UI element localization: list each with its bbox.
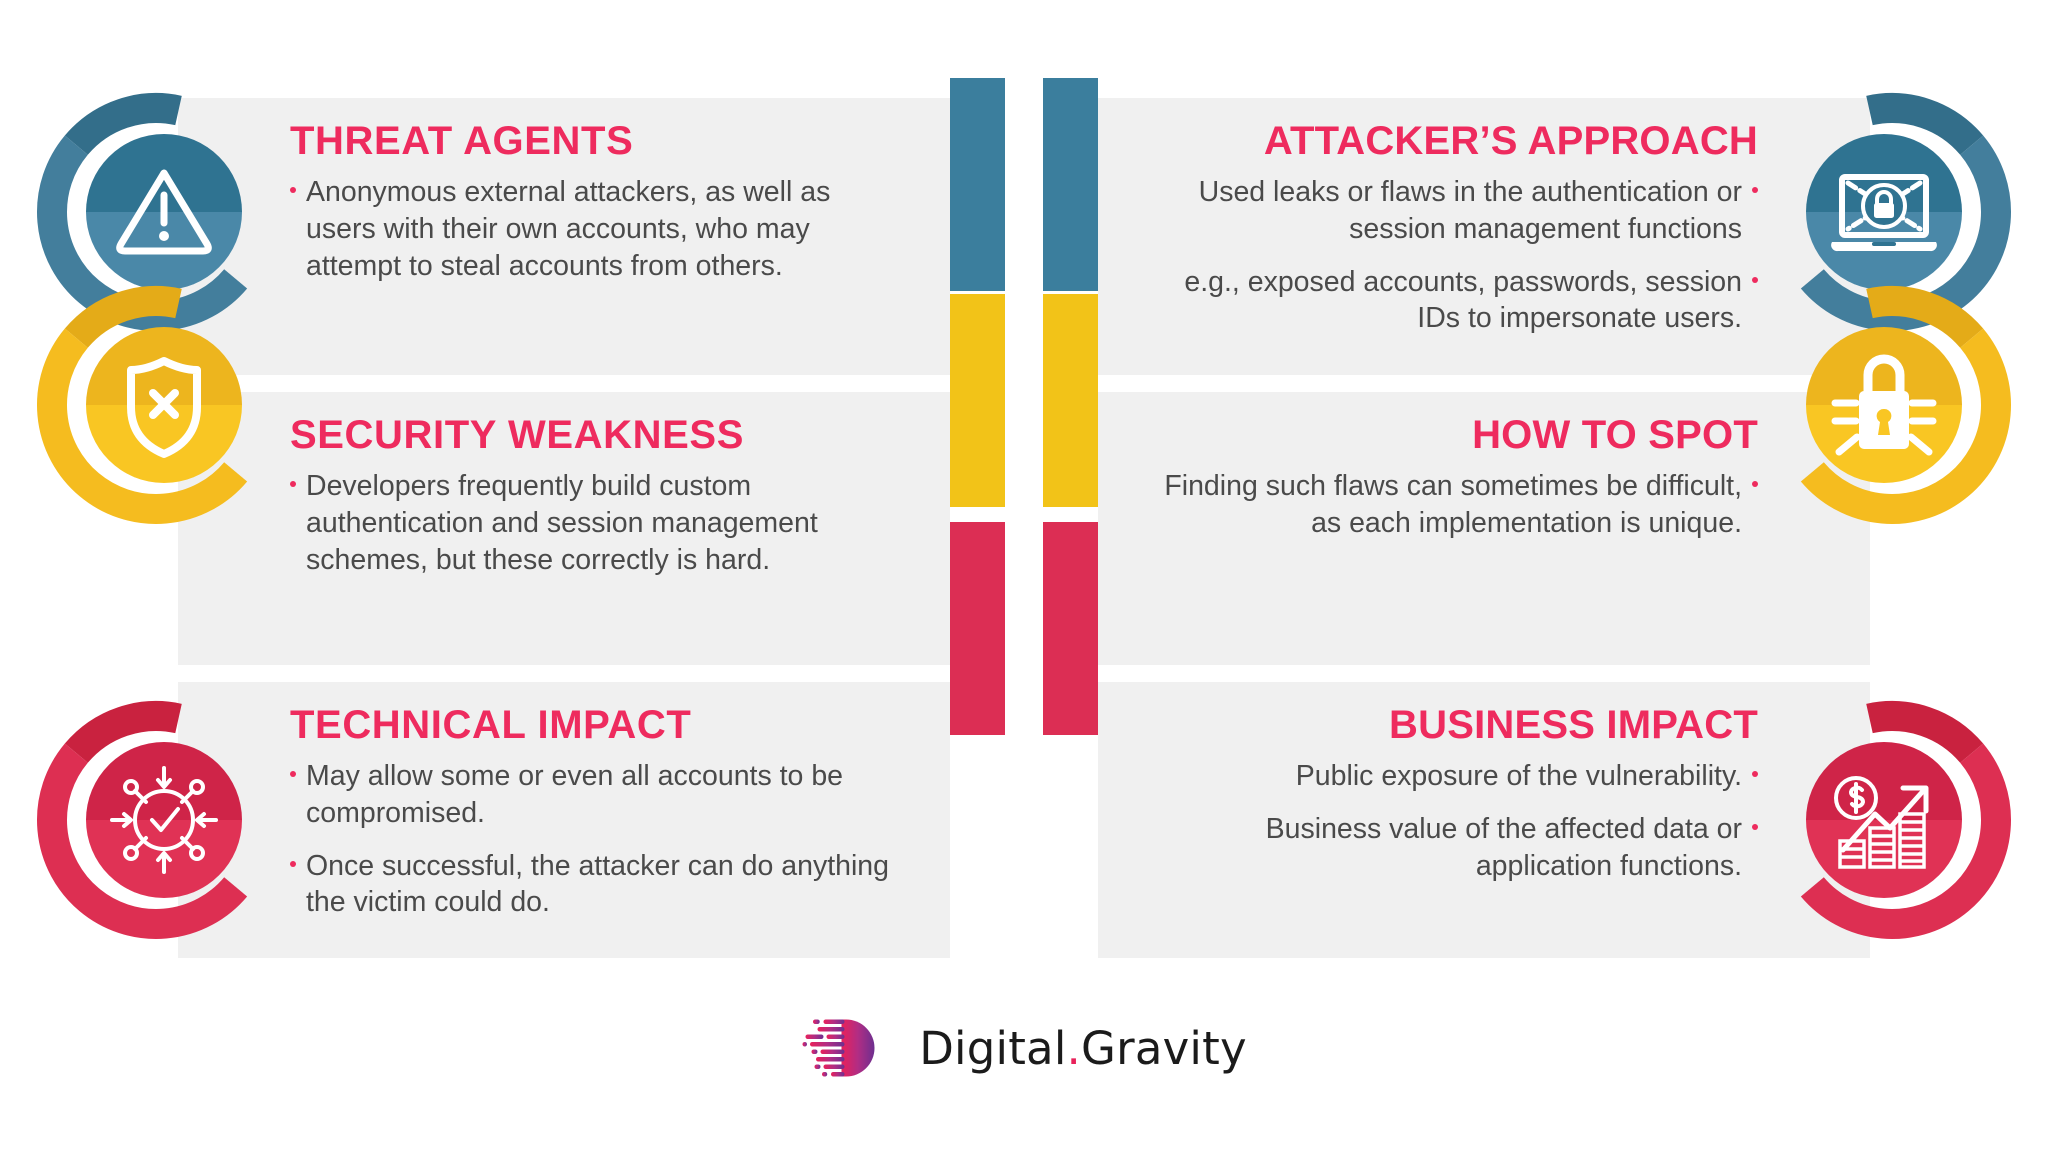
centre-divider-bar-row2-right [1043, 294, 1098, 507]
digital-gravity-mark-icon [801, 1012, 897, 1084]
list-item: Business value of the affected data or a… [1144, 811, 1758, 885]
list-item: e.g., exposed accounts, passwords, sessi… [1144, 264, 1758, 338]
icon-badge-security-weakness [36, 285, 276, 525]
centre-divider-bar-row2-left [950, 294, 1005, 507]
panel-title: ATTACKER’S APPROACH [1144, 120, 1758, 162]
bullet-text: Business value of the affected data or a… [1266, 813, 1742, 882]
panel-security-weakness: SECURITY WEAKNESS Developers frequently … [178, 392, 950, 665]
money-growth-chart-icon [1772, 700, 2012, 940]
panel-attackers-approach: ATTACKER’S APPROACH Used leaks or flaws … [1098, 98, 1870, 375]
bullet-text: May allow some or even all accounts to b… [306, 760, 843, 829]
bullet-dot-icon [1752, 481, 1758, 487]
panel-title: SECURITY WEAKNESS [290, 414, 904, 456]
bullet-dot-icon [290, 481, 296, 487]
bullet-dot-icon [290, 861, 296, 867]
list-item: Developers frequently build custom authe… [290, 468, 904, 578]
bullet-text: Public exposure of the vulnerability. [1296, 760, 1742, 792]
panel-title: THREAT AGENTS [290, 120, 904, 162]
panel-title: TECHNICAL IMPACT [290, 704, 904, 746]
centre-divider-bar-row3-left [950, 522, 1005, 735]
centre-divider-bar-row3-right [1043, 522, 1098, 735]
bullet-list: Finding such flaws can sometimes be diff… [1144, 468, 1758, 542]
bullet-list: Anonymous external attackers, as well as… [290, 174, 904, 284]
icon-badge-business-impact [1772, 700, 2012, 940]
bullet-dot-icon [290, 187, 296, 193]
logo-separator-dot: . [1067, 1022, 1082, 1075]
bullet-text: Once successful, the attacker can do any… [306, 850, 889, 919]
icon-badge-technical-impact [36, 700, 276, 940]
bullet-text: e.g., exposed accounts, passwords, sessi… [1184, 266, 1742, 335]
brand-logo-text: Digital.Gravity [919, 1022, 1247, 1075]
centre-divider-bar-row1-left [950, 78, 1005, 291]
bullet-list: May allow some or even all accounts to b… [290, 758, 904, 921]
list-item: Public exposure of the vulnerability. [1144, 758, 1758, 795]
bullet-text: Anonymous external attackers, as well as… [306, 176, 830, 282]
list-item: Anonymous external attackers, as well as… [290, 174, 904, 284]
brand-logo: Digital.Gravity [0, 1012, 2048, 1084]
list-item: May allow some or even all accounts to b… [290, 758, 904, 832]
list-item: Once successful, the attacker can do any… [290, 848, 904, 922]
network-check-icon [36, 700, 276, 940]
logo-name-part2: Gravity [1081, 1022, 1247, 1075]
panel-title: BUSINESS IMPACT [1144, 704, 1758, 746]
bullet-dot-icon [1752, 824, 1758, 830]
infographic-root: THREAT AGENTS Anonymous external attacke… [0, 0, 2048, 1152]
bullet-dot-icon [1752, 277, 1758, 283]
padlock-bug-icon [1772, 285, 2012, 525]
bullet-list: Developers frequently build custom authe… [290, 468, 904, 578]
list-item: Used leaks or flaws in the authenticatio… [1144, 174, 1758, 248]
bullet-dot-icon [290, 771, 296, 777]
panel-business-impact: BUSINESS IMPACT Public exposure of the v… [1098, 682, 1870, 958]
bullet-dot-icon [1752, 771, 1758, 777]
bullet-text: Developers frequently build custom authe… [306, 470, 818, 576]
bullet-text: Finding such flaws can sometimes be diff… [1164, 470, 1742, 539]
bullet-list: Public exposure of the vulnerability. Bu… [1144, 758, 1758, 884]
bullet-list: Used leaks or flaws in the authenticatio… [1144, 174, 1758, 337]
shield-cross-icon [36, 285, 276, 525]
panel-title: HOW TO SPOT [1144, 414, 1758, 456]
logo-name-part1: Digital [919, 1022, 1066, 1075]
panel-how-to-spot: HOW TO SPOT Finding such flaws can somet… [1098, 392, 1870, 665]
panel-threat-agents: THREAT AGENTS Anonymous external attacke… [178, 98, 950, 375]
bullet-text: Used leaks or flaws in the authenticatio… [1199, 176, 1742, 245]
bullet-dot-icon [1752, 187, 1758, 193]
centre-divider-bar-row1-right [1043, 78, 1098, 291]
icon-badge-how-to-spot [1772, 285, 2012, 525]
panel-technical-impact: TECHNICAL IMPACT May allow some or even … [178, 682, 950, 958]
list-item: Finding such flaws can sometimes be diff… [1144, 468, 1758, 542]
